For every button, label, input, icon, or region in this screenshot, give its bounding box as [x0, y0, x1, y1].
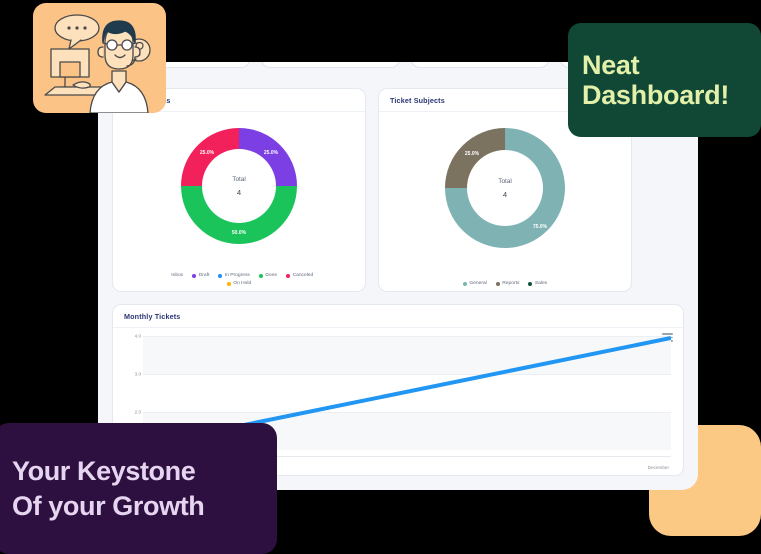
slice-label-general: 75.0% — [533, 224, 548, 230]
legend-label-in-progress: In Progress — [225, 273, 250, 278]
kpi-card-2[interactable] — [261, 62, 399, 68]
legend-item-in-progress[interactable]: In Progress — [218, 273, 250, 278]
callout-green-line1: Neat — [582, 50, 747, 81]
legend-dot-reports — [496, 282, 500, 286]
legend-dot-sales — [528, 282, 532, 286]
legend-item-reports[interactable]: Reports — [496, 281, 520, 286]
ticket-subjects-legend: General Reports Sales — [379, 281, 631, 286]
card-ticket-status: Ticket Status 25. — [112, 88, 366, 292]
callout-neat-dashboard: Neat Dashboard! — [568, 23, 761, 137]
legend-item-general[interactable]: General — [463, 281, 487, 286]
y-tick-4: 4.0 — [121, 334, 141, 339]
legend-dot-on-hold — [227, 282, 231, 286]
screenshot-root: Ticket Status 25. — [0, 0, 761, 554]
legend-label-sales: Sales — [535, 281, 547, 286]
legend-label-reports: Reports — [502, 281, 519, 286]
legend-label-canceled: Canceled — [293, 273, 314, 278]
legend-item-inbox[interactable]: Inbox — [165, 273, 183, 278]
ticket-subjects-donut-wrap: 75.0% 25.0% Total 4 — [379, 120, 631, 256]
ticket-status-body: 25.0% 50.0% 25.0% Total 4 — [113, 112, 365, 291]
legend-item-sales[interactable]: Sales — [528, 281, 547, 286]
ticket-status-donut-wrap: 25.0% 50.0% 25.0% Total 4 — [113, 120, 365, 252]
legend-item-done[interactable]: Done — [259, 273, 277, 278]
legend-label-general: General — [469, 281, 486, 286]
legend-dot-in-progress — [218, 274, 222, 278]
legend-item-canceled[interactable]: Canceled — [286, 273, 313, 278]
ticket-status-donut[interactable]: 25.0% 50.0% 25.0% Total 4 — [173, 120, 305, 252]
legend-label-draft: Draft — [199, 273, 210, 278]
legend-dot-canceled — [286, 274, 290, 278]
card-title-monthly-tickets: Monthly Tickets — [113, 305, 683, 328]
callout-green-line2: Dashboard! — [582, 80, 747, 111]
legend-label-done: Done — [265, 273, 277, 278]
ticket-status-legend: Inbox Draft In Progress Done — [113, 273, 365, 286]
legend-item-draft[interactable]: Draft — [192, 273, 209, 278]
y-tick-3: 3.0 — [121, 372, 141, 377]
x-tick-december: December — [648, 465, 669, 470]
slice-label-reports: 25.0% — [465, 151, 480, 157]
callout-purple-line1: Your Keystone — [12, 454, 259, 489]
slice-label-done: 50.0% — [232, 230, 247, 236]
legend-dot-done — [259, 274, 263, 278]
ticket-subjects-body: 75.0% 25.0% Total 4 General — [379, 112, 631, 291]
kpi-card-3[interactable] — [411, 62, 549, 68]
slice-label-canceled: 25.0% — [200, 150, 215, 156]
legend-label-inbox: Inbox — [171, 273, 183, 278]
legend-dot-general — [463, 282, 467, 286]
legend-dot-draft — [192, 274, 196, 278]
ticket-subjects-donut[interactable]: 75.0% 25.0% Total 4 — [437, 120, 573, 256]
legend-label-on-hold: On Hold — [233, 281, 251, 286]
callout-purple-line2: Of your Growth — [12, 489, 259, 524]
callout-your-keystone: Your Keystone Of your Growth — [0, 423, 277, 554]
slice-label-draft: 25.0% — [264, 150, 279, 156]
legend-item-on-hold[interactable]: On Hold — [121, 281, 357, 286]
y-tick-2: 2.0 — [121, 410, 141, 415]
support-agent-illustration — [33, 3, 166, 113]
